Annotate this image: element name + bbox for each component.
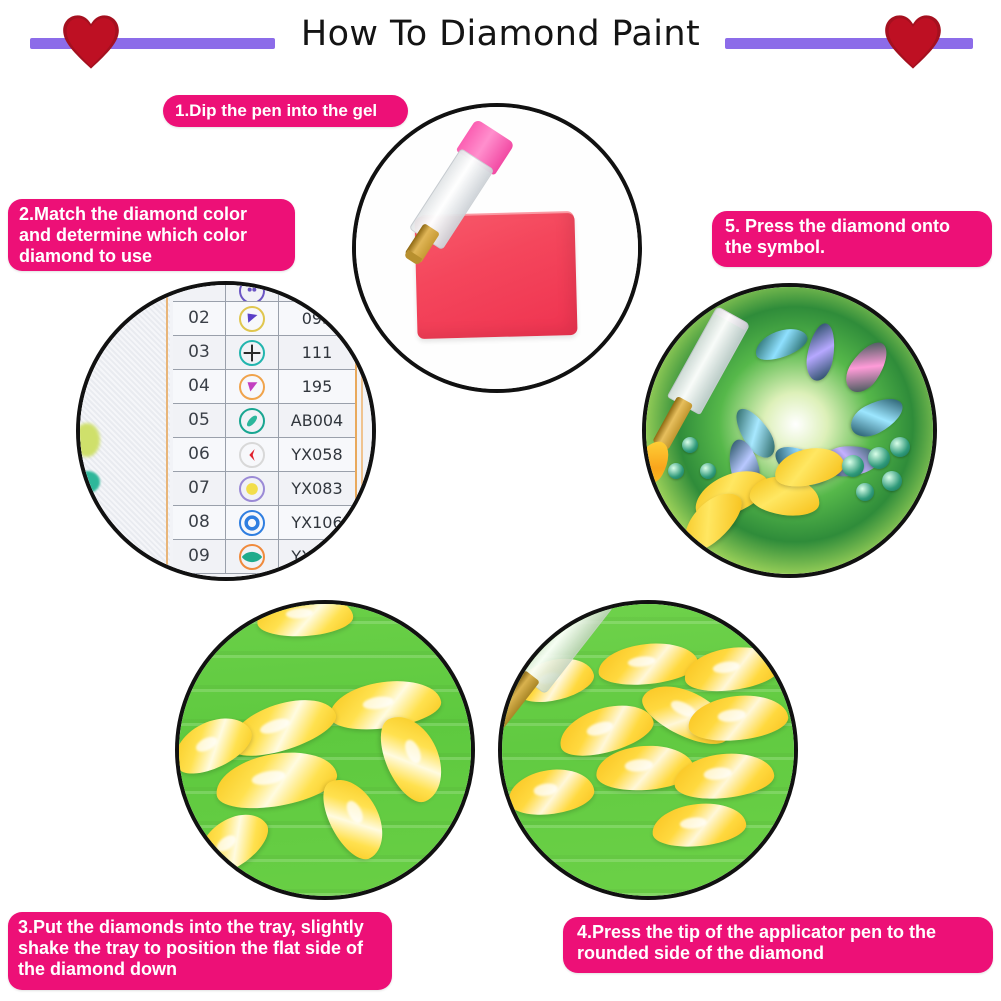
chart-row-code: 093 <box>279 309 355 328</box>
gem-highlight <box>703 766 732 780</box>
gem-highlight <box>285 607 313 619</box>
gem-highlight <box>362 695 395 711</box>
diamond-gem <box>751 323 811 366</box>
gem-highlight <box>717 708 746 722</box>
color-chart-table: 02802093031110419505AB00406YX05807YX0830… <box>173 281 355 574</box>
diamond-gem <box>845 391 909 444</box>
table-row: 09YX125 <box>173 540 355 574</box>
gem-highlight <box>585 719 614 737</box>
step-3-label: 3.Put the diamonds into the tray, slight… <box>8 912 392 990</box>
diamond-gem <box>682 642 783 697</box>
chart-row-number: 08 <box>173 506 226 539</box>
photo-color-chart: 02802093031110419505AB00406YX05807YX0830… <box>76 281 376 581</box>
photo-diamonds-in-tray <box>175 600 475 900</box>
gem-highlight <box>343 798 365 825</box>
gem-highlight <box>625 759 653 772</box>
chart-row-number: 02 <box>173 302 226 335</box>
diamond-gem <box>505 764 596 820</box>
table-row: 08YX106 <box>173 506 355 540</box>
chart-row-symbol-icon <box>226 472 279 505</box>
diamond-gem <box>839 335 895 398</box>
table-row: 07YX083 <box>173 472 355 506</box>
chart-row-symbol-icon <box>226 336 279 369</box>
chart-row-code: YX125 <box>279 547 355 566</box>
chart-row-number: 06 <box>173 438 226 471</box>
diamond-gem <box>856 483 874 501</box>
diamond-gem <box>803 321 839 383</box>
chart-row-code: YX058 <box>279 445 355 464</box>
step-2-label: 2.Match the diamond color and determine … <box>8 199 295 271</box>
diamond-gem <box>890 437 910 457</box>
chart-row-code: 111 <box>279 343 355 362</box>
table-row: 028 <box>173 281 355 302</box>
chart-row-number: 07 <box>173 472 226 505</box>
gem-highlight <box>193 734 219 755</box>
gem-highlight <box>712 660 740 675</box>
diamond-gem <box>842 455 864 477</box>
step-4-label: 4.Press the tip of the applicator pen to… <box>563 917 993 973</box>
diamond-gem <box>187 801 277 884</box>
chart-margin-line <box>166 285 168 581</box>
chart-row-code: YX083 <box>279 479 355 498</box>
gem-highlight <box>533 782 558 797</box>
step-5-label: 5. Press the diamond onto the symbol. <box>712 211 992 267</box>
diamond-gem <box>868 447 890 469</box>
gem-highlight <box>250 768 286 787</box>
table-row: 03111 <box>173 336 355 370</box>
gem-highlight <box>627 655 656 668</box>
table-row: 04195 <box>173 370 355 404</box>
chart-row-symbol-icon <box>226 438 279 471</box>
canvas-paint-blob <box>76 471 100 493</box>
page-title: How To Diamond Paint <box>0 14 1001 54</box>
chart-row-symbol-icon <box>226 404 279 437</box>
chart-row-symbol-icon <box>226 540 279 573</box>
chart-row-number: 04 <box>173 370 226 403</box>
chart-row-code: YX106 <box>279 513 355 532</box>
chart-row-code: 028 <box>279 282 355 301</box>
chart-margin-line <box>361 285 363 581</box>
chart-row-number <box>173 281 226 301</box>
diamond-gem <box>668 463 684 479</box>
gem-highlight <box>214 832 239 855</box>
loose-diamonds-layer <box>179 604 471 896</box>
photo-pen-picking-diamond <box>498 600 798 900</box>
chart-row-number: 09 <box>173 540 226 573</box>
chart-row-number: 03 <box>173 336 226 369</box>
chart-row-code: AB004 <box>279 411 355 430</box>
diamond-gem <box>882 471 902 491</box>
chart-row-code: 195 <box>279 377 355 396</box>
diamond-gem <box>650 799 748 851</box>
chart-row-number: 05 <box>173 404 226 437</box>
chart-row-symbol-icon <box>226 506 279 539</box>
gem-highlight <box>258 716 291 737</box>
diamond-gem <box>596 639 700 689</box>
chart-row-symbol-icon <box>226 302 279 335</box>
chart-row-symbol-icon <box>226 370 279 403</box>
table-row: 02093 <box>173 302 355 336</box>
photo-pen-dipping-gel <box>352 103 642 393</box>
table-row: 06YX058 <box>173 438 355 472</box>
diamond-gem <box>700 463 716 479</box>
gem-highlight <box>402 737 425 766</box>
photo-diamond-on-symbol <box>642 283 937 578</box>
gem-highlight <box>679 816 706 830</box>
chart-row-symbol-icon <box>226 281 279 301</box>
table-row: 05AB004 <box>173 404 355 438</box>
page-header: How To Diamond Paint <box>0 0 1001 80</box>
step-1-label: 1.Dip the pen into the gel <box>163 95 408 127</box>
diamond-gem <box>256 600 355 639</box>
